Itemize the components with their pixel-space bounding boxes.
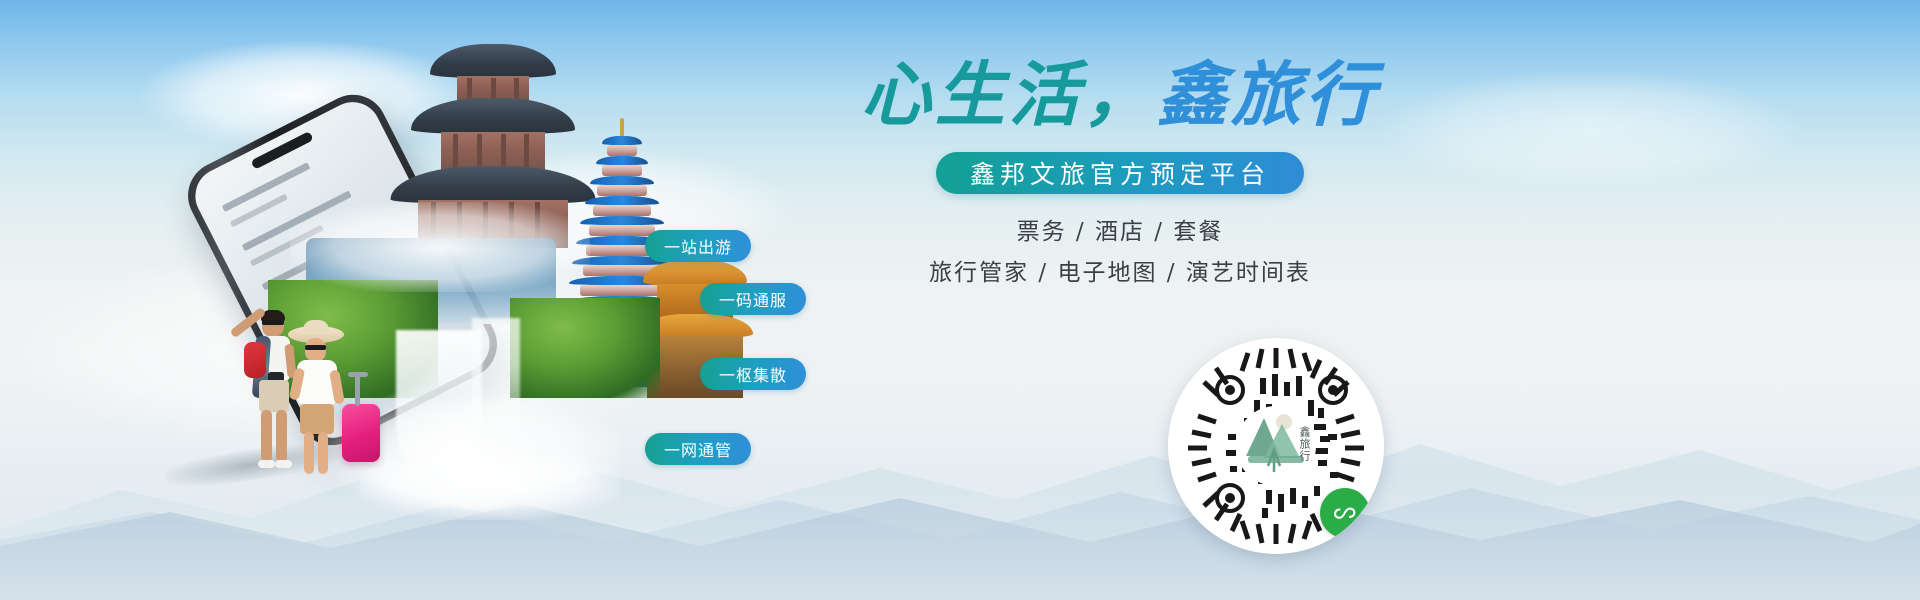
woman-shorts (300, 404, 334, 434)
headline: 心生活，鑫旅行 (800, 60, 1440, 130)
woman-head (305, 338, 326, 362)
woman-hat-crown (303, 320, 329, 334)
tower-band (589, 225, 655, 236)
services-line-1: 票务 / 酒店 / 套餐 (800, 212, 1440, 246)
tower-band (597, 185, 647, 196)
mist-cloud-pool (360, 450, 620, 520)
foliage-cluster-right (510, 298, 660, 398)
platform-pill-label: 鑫邦文旅官方预定平台 (970, 155, 1270, 191)
waterfall-secondary (472, 318, 520, 428)
temple-column (491, 78, 496, 100)
temple-column (477, 134, 482, 170)
headline-comma: ， (1083, 53, 1157, 136)
qr-code-circle[interactable]: 鑫旅行 (1168, 338, 1384, 554)
headline-part-a: 心生活 (861, 53, 1083, 136)
man-sunglasses (262, 320, 284, 325)
tower-eave (590, 176, 654, 185)
tower-eave (602, 136, 642, 145)
waterfall-main (396, 330, 482, 480)
headline-part-b: 鑫旅行 (1157, 53, 1379, 136)
temple-column (501, 134, 506, 170)
feature-pill-yimatongfu[interactable]: 一码通服 (700, 283, 806, 315)
feature-pill-yizhanchuyou[interactable]: 一站出游 (645, 230, 751, 262)
tower-band (593, 205, 651, 216)
phone-scene-artwork (150, 20, 730, 580)
travel-promo-banner: 一站出游 一码通服 一枢集散 一网通管 心生活，鑫旅行 鑫邦文旅官方预定平台 票… (0, 0, 1920, 600)
feature-pill-label: 一枢集散 (719, 362, 787, 386)
temple-roof-mid (411, 98, 575, 134)
temple-roof-top (430, 44, 556, 78)
temple-column (524, 134, 529, 170)
feature-pill-label: 一网通管 (664, 437, 732, 461)
feature-pill-yiwangtongguan[interactable]: 一网通管 (645, 433, 751, 465)
man-shoe (258, 460, 275, 468)
traveller-couple (200, 300, 380, 500)
man-shorts (259, 380, 289, 412)
services-line-2: 旅行管家 / 电子地图 / 演艺时间表 (800, 253, 1440, 287)
temple-column (467, 78, 472, 100)
tower-band (607, 145, 637, 156)
woman-leg (318, 432, 328, 474)
temple-column (514, 78, 519, 100)
mini-program-glyph (1330, 498, 1360, 528)
wechat-mini-program-icon[interactable] (1320, 488, 1370, 538)
feature-pill-yishujisan[interactable]: 一枢集散 (700, 358, 806, 390)
tower-spire (620, 118, 624, 138)
qr-code-block[interactable]: 鑫旅行 (1168, 338, 1384, 554)
suitcase-handle-bar (348, 372, 368, 377)
feature-pill-label: 一站出游 (664, 234, 732, 258)
pink-suitcase (342, 404, 380, 462)
tower-eave (596, 156, 648, 165)
temple-column (453, 134, 458, 170)
man-backpack (244, 342, 266, 378)
woman-sunglasses (305, 345, 326, 350)
qr-logo-text: 鑫旅行 (1298, 426, 1310, 462)
man-pointing-arm (229, 307, 266, 339)
feature-pill-label: 一码通服 (719, 287, 787, 311)
tower-band (602, 165, 642, 176)
man-leg (261, 410, 272, 462)
suitcase-handle (355, 374, 360, 406)
woman-leg (304, 432, 314, 474)
tower-eave (580, 216, 664, 225)
tower-eave (585, 196, 659, 205)
right-content-block: 心生活，鑫旅行 鑫邦文旅官方预定平台 票务 / 酒店 / 套餐 旅行管家 / 电… (800, 60, 1440, 287)
platform-pill[interactable]: 鑫邦文旅官方预定平台 (936, 152, 1304, 194)
